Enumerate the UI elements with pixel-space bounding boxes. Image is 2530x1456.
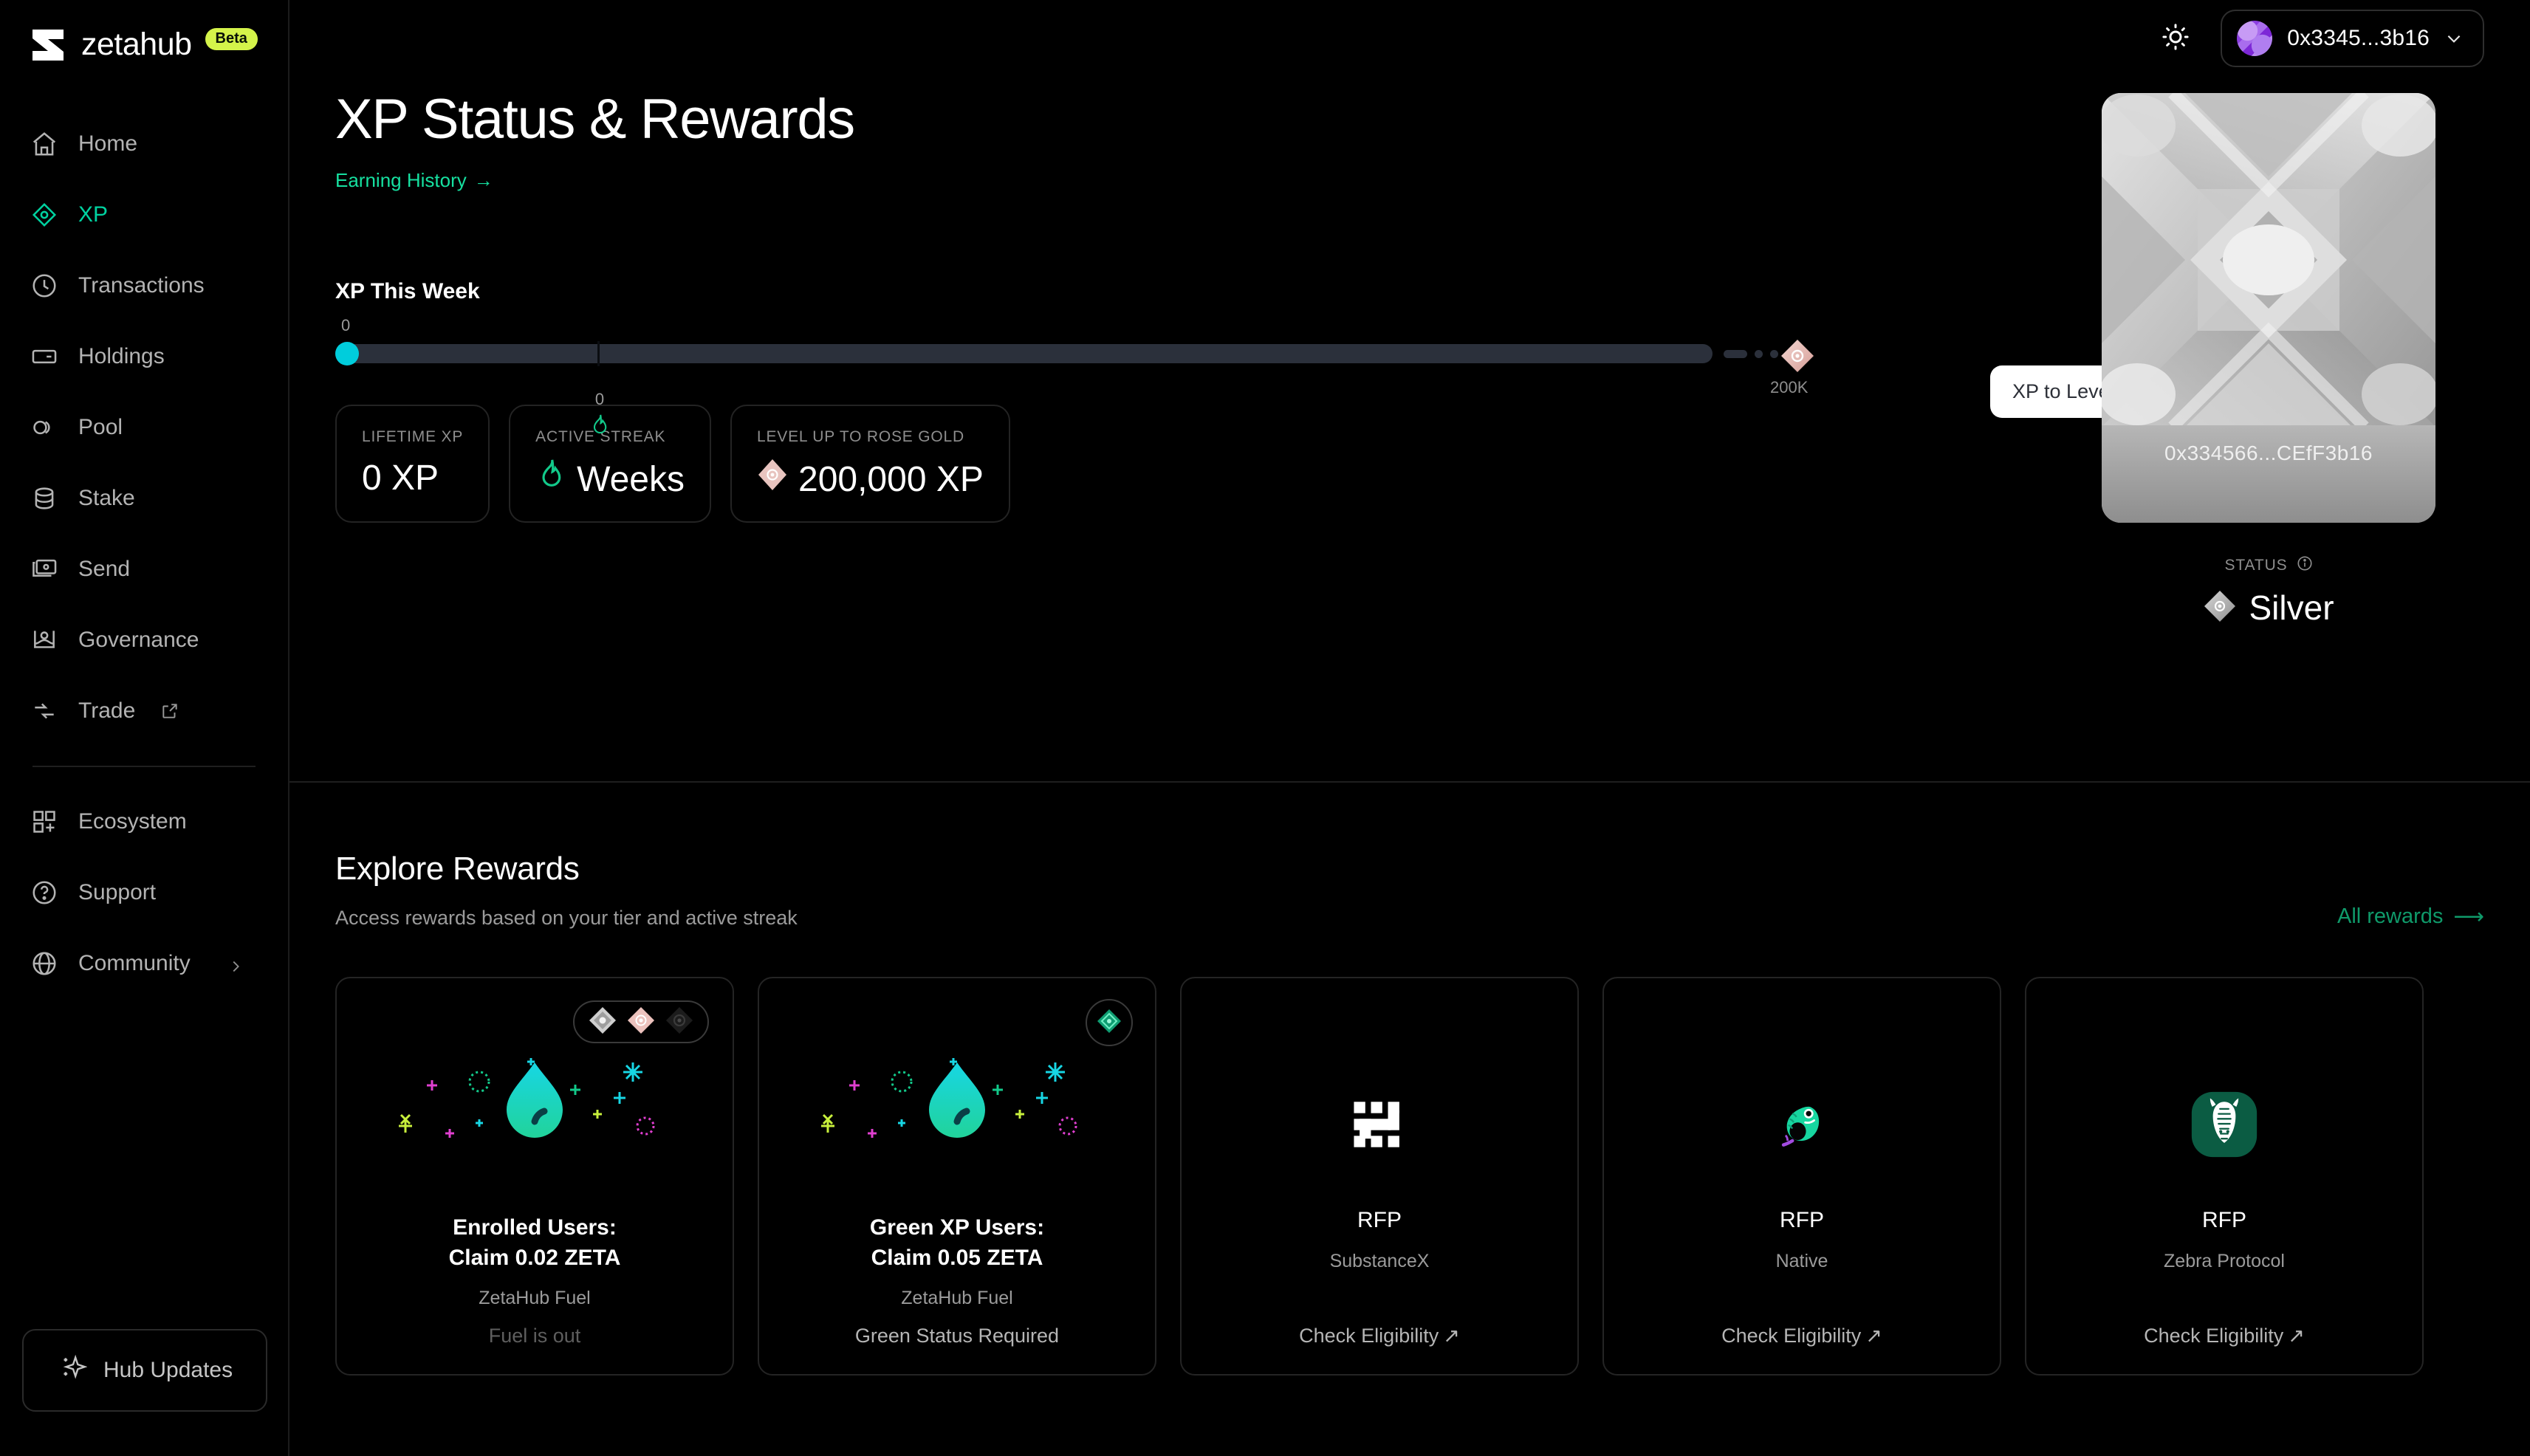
flame-icon (535, 458, 566, 501)
reward-card-subtitle: Native (1776, 1251, 1828, 1272)
section-divider (289, 781, 2530, 783)
sidebar-item-governance[interactable]: Governance (0, 605, 288, 676)
reward-card-native[interactable]: RFP Native Check Eligibility↗ (1602, 977, 2001, 1376)
earning-history-label: Earning History (335, 169, 467, 192)
sidebar-item-label: Send (78, 557, 130, 582)
explore-rewards-section: Explore Rewards Access rewards based on … (335, 851, 2484, 1376)
reward-card-action-label: Check Eligibility (1721, 1325, 1861, 1347)
theme-toggle-button[interactable] (2156, 18, 2195, 58)
xp-progress-knob[interactable] (335, 342, 359, 365)
stat-card-level-up: LEVEL UP TO ROSE GOLD 200,000 XP (730, 405, 1010, 523)
sun-icon (2160, 21, 2191, 56)
globe-icon (30, 949, 59, 978)
silver-diamond-icon (588, 1006, 617, 1039)
status-label: STATUS (2224, 557, 2287, 574)
sidebar-item-label: Community (78, 951, 191, 976)
earning-history-link[interactable]: Earning History → (335, 169, 493, 192)
silver-diamond-icon (2203, 589, 2237, 627)
clock-icon (30, 271, 59, 301)
substancex-logo-icon (1344, 1089, 1415, 1160)
sidebar-item-support[interactable]: Support (0, 857, 288, 928)
sidebar-item-label: Stake (78, 486, 135, 511)
beta-badge: Beta (205, 28, 258, 50)
stat-value: Weeks (535, 458, 685, 501)
xp-streak-value: 0 (586, 390, 613, 409)
reward-card-zebra-protocol[interactable]: RFP Zebra Protocol Check Eligibility↗ (2025, 977, 2424, 1376)
sidebar-item-stake[interactable]: Stake (0, 463, 288, 534)
rewards-header: Explore Rewards Access rewards based on … (335, 851, 2484, 930)
tier-badge-green (1086, 999, 1133, 1046)
xp-diamond-icon (30, 200, 59, 230)
hub-updates-label: Hub Updates (103, 1358, 233, 1383)
reward-card-title: RFP (1357, 1206, 1402, 1236)
arrow-up-right-icon: ↗ (1865, 1325, 1882, 1347)
tier-badge-group (573, 1000, 709, 1043)
sidebar-item-ecosystem[interactable]: Ecosystem (0, 786, 288, 857)
sidebar-item-xp[interactable]: XP (0, 179, 288, 250)
sidebar-item-transactions[interactable]: Transactions (0, 250, 288, 321)
rose-gold-diamond-icon[interactable] (1779, 337, 1816, 374)
all-rewards-label: All rewards (2337, 904, 2443, 929)
pool-rings-icon (30, 413, 59, 442)
reward-card-title-line2: Claim 0.05 ZETA (870, 1243, 1044, 1274)
green-diamond-icon (1094, 1006, 1124, 1040)
sidebar-item-label: Transactions (78, 273, 205, 298)
reward-card-subtitle: SubstanceX (1330, 1251, 1430, 1272)
main-content: 0x3345...3b16 XP Status & Rewards Earnin… (289, 0, 2530, 1456)
xp-goal-value: 200K (1770, 378, 1808, 397)
arrow-up-right-icon: ↗ (1443, 1325, 1460, 1347)
info-icon[interactable] (2297, 555, 2313, 576)
sidebar-item-community[interactable]: Community (0, 928, 288, 999)
trade-arrows-icon (30, 696, 59, 726)
xp-progress-track (335, 344, 1713, 363)
reward-card-action-label: Check Eligibility (2144, 1325, 2283, 1347)
arrow-right-icon: → (474, 169, 493, 192)
xp-start-value: 0 (341, 316, 350, 335)
stat-value-text: Weeks (577, 459, 685, 500)
banknote-icon (30, 554, 59, 584)
wallet-card-icon (30, 342, 59, 371)
brand-name: zetahub (81, 27, 192, 63)
sidebar-item-trade[interactable]: Trade (0, 676, 288, 746)
reward-card-title-line1: Green XP Users: (870, 1213, 1044, 1243)
reward-card-enrolled-users[interactable]: Enrolled Users: Claim 0.02 ZETA ZetaHub … (335, 977, 734, 1376)
chevron-right-icon (227, 955, 244, 972)
wallet-address: 0x3345...3b16 (2287, 26, 2430, 51)
rewards-title: Explore Rewards (335, 851, 798, 887)
primary-nav: Home XP Transactions Holdings (0, 109, 288, 999)
arrow-up-right-icon: ↗ (2288, 1325, 2305, 1347)
hub-updates-button[interactable]: Hub Updates (22, 1329, 267, 1412)
xp-progress-dashes (1724, 350, 1778, 358)
sidebar-item-pool[interactable]: Pool (0, 392, 288, 463)
rewards-subtitle: Access rewards based on your tier and ac… (335, 907, 798, 930)
arrow-right-icon: ⟶ (2453, 904, 2484, 930)
reward-card-action: Green Status Required (759, 1325, 1155, 1347)
rose-gold-diamond-icon (626, 1006, 656, 1039)
stat-card-lifetime-xp: LIFETIME XP 0 XP (335, 405, 490, 523)
nft-address-label: 0x334566...CEfF3b16 (2102, 425, 2435, 523)
reward-card-title-line1: Enrolled Users: (449, 1213, 621, 1243)
reward-card-action: Fuel is out (337, 1325, 733, 1347)
reward-card-list: Enrolled Users: Claim 0.02 ZETA ZetaHub … (335, 977, 2484, 1376)
reward-card-action[interactable]: Check Eligibility↗ (1182, 1325, 1577, 1347)
sidebar-item-holdings[interactable]: Holdings (0, 321, 288, 392)
status-badge: Silver (2102, 588, 2435, 628)
stat-label: LEVEL UP TO ROSE GOLD (757, 428, 984, 446)
wallet-button[interactable]: 0x3345...3b16 (2221, 10, 2484, 67)
flame-icon (586, 413, 613, 441)
sidebar-item-home[interactable]: Home (0, 109, 288, 179)
stat-value: 200,000 XP (757, 458, 984, 501)
reward-card-title: RFP (1780, 1206, 1824, 1236)
grid-plus-icon (30, 807, 59, 837)
stat-label: LIFETIME XP (362, 428, 463, 446)
sidebar-divider (32, 766, 256, 767)
reward-card-title: Enrolled Users: Claim 0.02 ZETA (449, 1213, 621, 1273)
reward-card-subtitle: Zebra Protocol (2164, 1251, 2285, 1272)
stat-value: 0 XP (362, 458, 463, 498)
fuel-droplet-icon (784, 1049, 1131, 1167)
status-row: STATUS (2102, 555, 2435, 576)
reward-card-substancex[interactable]: RFP SubstanceX Check Eligibility↗ (1180, 977, 1579, 1376)
reward-card-title-line1: RFP (1780, 1206, 1824, 1236)
reward-card-subtitle: ZetaHub Fuel (901, 1288, 1012, 1309)
reward-card-title-line1: RFP (1357, 1206, 1402, 1236)
reward-card-title-line1: RFP (2202, 1206, 2246, 1236)
external-link-icon (160, 701, 179, 721)
native-chameleon-logo-icon (1768, 1089, 1836, 1160)
stat-value-text: 200,000 XP (798, 459, 984, 500)
sidebar-item-send[interactable]: Send (0, 534, 288, 605)
nft-status-panel: 0x334566...CEfF3b16 STATUS Silver (2102, 93, 2435, 628)
topbar: 0x3345...3b16 (289, 0, 2530, 77)
sparkle-icon (59, 1353, 87, 1387)
reward-card-title: Green XP Users: Claim 0.05 ZETA (870, 1213, 1044, 1273)
sidebar-item-label: Ecosystem (78, 809, 187, 834)
sidebar-item-label: Home (78, 131, 137, 157)
zeta-logo-icon (31, 28, 65, 62)
app-root: zetahub Beta Home XP Transactions (0, 0, 2530, 1456)
sidebar-item-label: Trade (78, 698, 135, 724)
reward-card-action[interactable]: Check Eligibility↗ (2026, 1325, 2422, 1347)
database-stack-icon (30, 484, 59, 513)
brand-logo[interactable]: zetahub Beta (0, 0, 288, 63)
chevron-down-icon (2444, 29, 2464, 48)
rose-gold-diamond-icon (757, 458, 788, 501)
governance-ballot-icon (30, 625, 59, 655)
sidebar-item-label: XP (78, 202, 108, 227)
xp-streak-marker: 0 (586, 390, 613, 441)
xp-streak-tick (597, 341, 600, 366)
stat-value-text: 0 XP (362, 458, 439, 498)
black-diamond-icon (665, 1006, 694, 1039)
sidebar-item-label: Support (78, 880, 156, 905)
tier-name: Silver (2249, 588, 2334, 628)
sidebar-item-label: Pool (78, 415, 123, 440)
home-icon (30, 129, 59, 159)
zebra-protocol-logo-icon (2189, 1089, 2260, 1160)
fuel-droplet-icon (361, 1049, 708, 1167)
reward-card-title: RFP (2202, 1206, 2246, 1236)
avatar (2237, 21, 2272, 56)
all-rewards-link[interactable]: All rewards ⟶ (2337, 904, 2484, 930)
sidebar-item-label: Governance (78, 628, 199, 653)
sidebar-item-label: Holdings (78, 344, 165, 369)
reward-card-action[interactable]: Check Eligibility↗ (1604, 1325, 2000, 1347)
xp-progress-bar[interactable]: 200K 0 (335, 344, 1790, 365)
reward-card-subtitle: ZetaHub Fuel (479, 1288, 590, 1309)
sidebar: zetahub Beta Home XP Transactions (0, 0, 289, 1456)
question-circle-icon (30, 878, 59, 907)
nft-card[interactable]: 0x334566...CEfF3b16 (2102, 93, 2435, 523)
reward-card-green-xp-users[interactable]: Green XP Users: Claim 0.05 ZETA ZetaHub … (758, 977, 1156, 1376)
reward-card-action-label: Check Eligibility (1299, 1325, 1439, 1347)
reward-card-title-line2: Claim 0.02 ZETA (449, 1243, 621, 1274)
